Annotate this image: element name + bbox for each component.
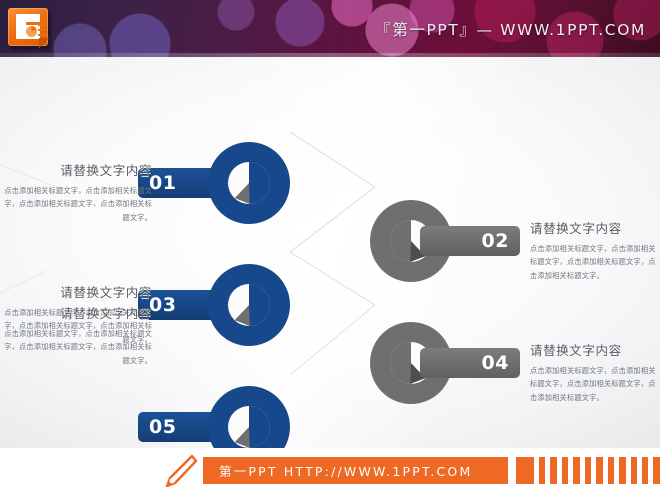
- node-04-body: 点击添加相关标题文字，点击添加相关标题文字，点击添加相关标题文字，点击添加相关标…: [530, 364, 656, 404]
- site-header: 『第一PPT』— WWW.1PPT.COM: [0, 0, 660, 57]
- powerpoint-logo-icon: [8, 8, 52, 50]
- node-04-number: 04: [482, 354, 509, 373]
- node-01-title: 请替换文字内容: [0, 163, 152, 178]
- node-02-number: 02: [482, 232, 509, 251]
- pen-icon: [162, 454, 198, 488]
- node-03-ring[interactable]: [208, 264, 290, 346]
- node-01-number: 01: [149, 174, 176, 193]
- diagram-area: 01 请替换文字内容 点击添加相关标题文字，点击添加相关标题文字，点击添加相关标…: [0, 57, 660, 448]
- node-02-body: 点击添加相关标题文字，点击添加相关标题文字，点击添加相关标题文字，点击添加相关标…: [530, 242, 656, 282]
- node-01-ring[interactable]: [208, 142, 290, 224]
- node-04-text: 请替换文字内容 点击添加相关标题文字，点击添加相关标题文字，点击添加相关标题文字…: [530, 343, 656, 404]
- node-05-title: 请替换文字内容: [0, 306, 152, 321]
- slide-canvas: 『第一PPT』— WWW.1PPT.COM 01 请替换文: [0, 0, 660, 495]
- footer-url-bar: 第一PPT HTTP://WWW.1PPT.COM: [203, 457, 508, 484]
- node-05-number: 05: [149, 418, 176, 437]
- node-02-text: 请替换文字内容 点击添加相关标题文字，点击添加相关标题文字，点击添加相关标题文字…: [530, 221, 656, 282]
- footer-url-text: 第一PPT HTTP://WWW.1PPT.COM: [219, 461, 472, 480]
- node-03-title: 请替换文字内容: [0, 285, 152, 300]
- node-04-title: 请替换文字内容: [530, 343, 656, 358]
- site-footer: 第一PPT HTTP://WWW.1PPT.COM: [0, 448, 660, 495]
- node-04-number-bar[interactable]: 04: [420, 348, 520, 378]
- footer-stripes: [516, 457, 660, 484]
- node-01-body: 点击添加相关标题文字，点击添加相关标题文字，点击添加相关标题文字，点击添加相关标…: [0, 184, 152, 224]
- node-01-text: 请替换文字内容 点击添加相关标题文字，点击添加相关标题文字，点击添加相关标题文字…: [0, 163, 152, 224]
- node-03-number: 03: [149, 296, 176, 315]
- node-05-body: 点击添加相关标题文字，点击添加相关标题文字，点击添加相关标题文字，点击添加相关标…: [0, 327, 152, 367]
- node-05-text: 请替换文字内容 点击添加相关标题文字，点击添加相关标题文字，点击添加相关标题文字…: [0, 306, 152, 367]
- node-02-title: 请替换文字内容: [530, 221, 656, 236]
- node-02-number-bar[interactable]: 02: [420, 226, 520, 256]
- header-title: 『第一PPT』— WWW.1PPT.COM: [375, 18, 646, 40]
